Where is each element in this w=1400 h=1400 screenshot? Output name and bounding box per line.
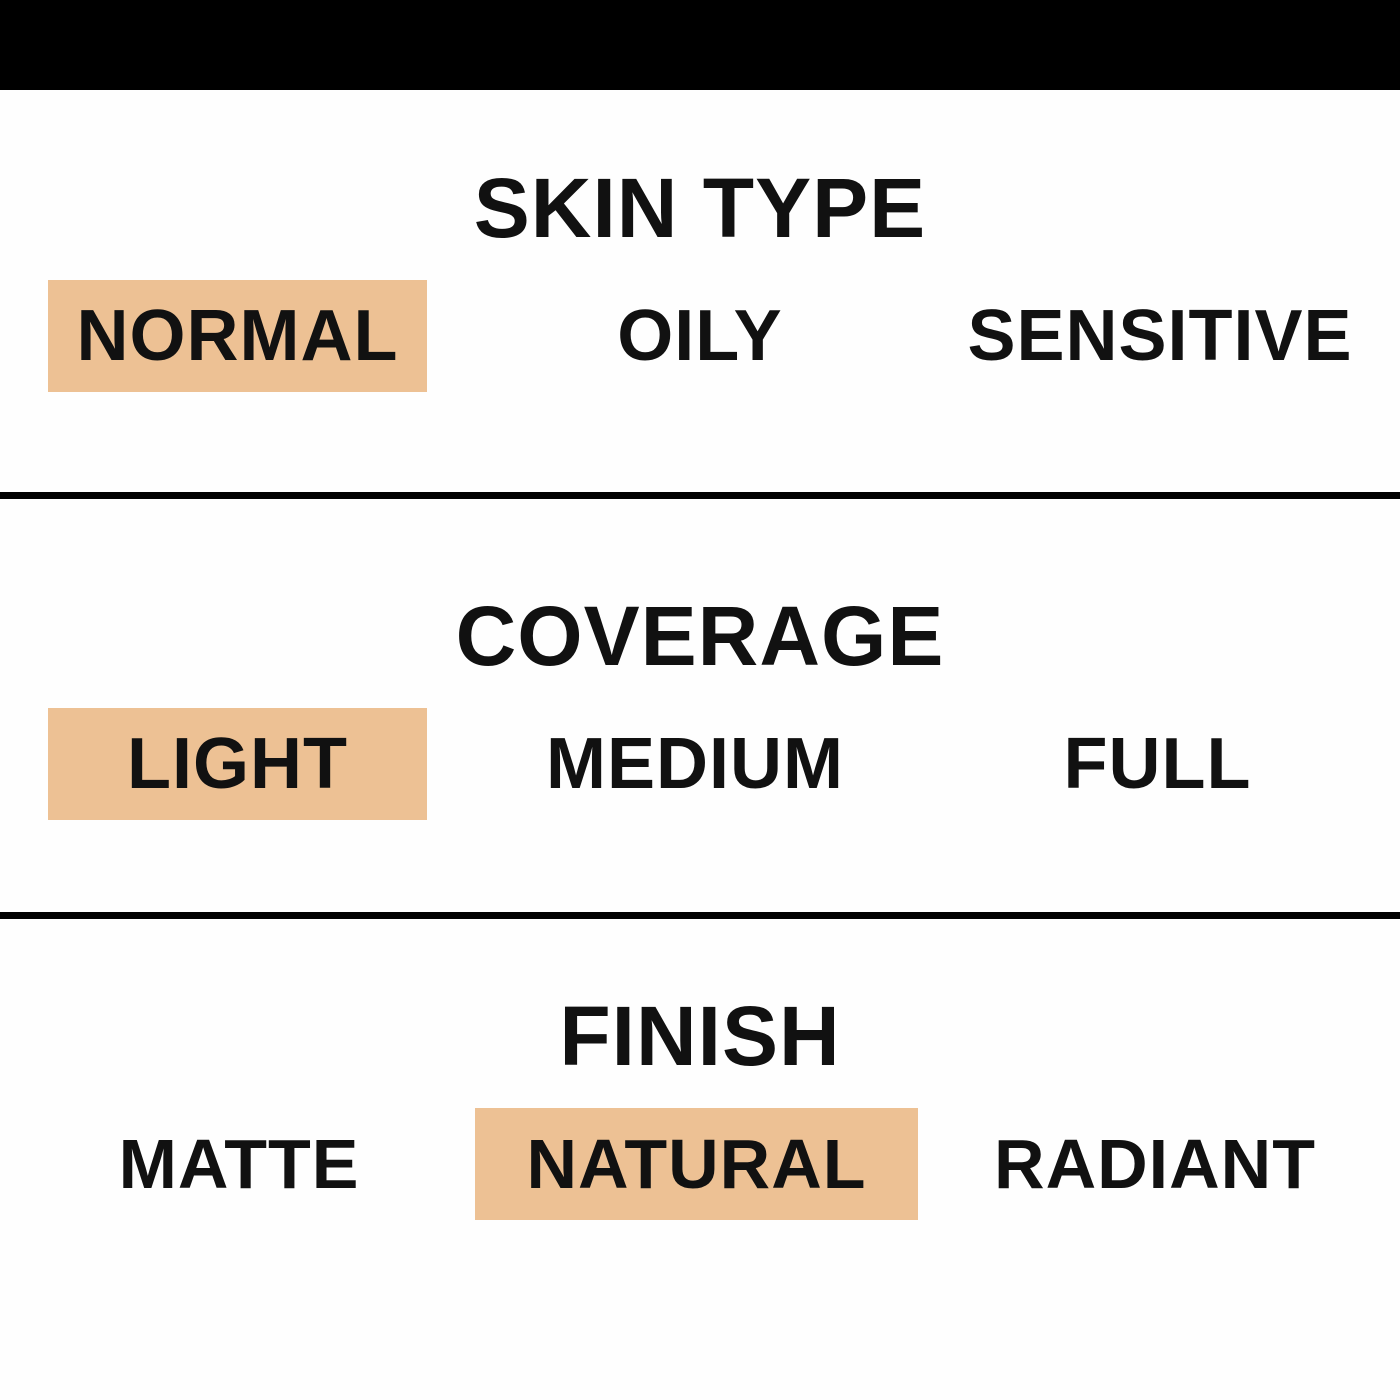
option-label: OILY — [617, 280, 782, 392]
option-coverage-medium[interactable]: MEDIUM — [520, 708, 870, 820]
option-row-coverage: LIGHT MEDIUM FULL — [0, 708, 1400, 838]
option-skin-type-oily[interactable]: OILY — [560, 280, 840, 392]
poster-canvas: SKIN TYPE NORMAL OILY SENSITIVE COVERAGE… — [0, 0, 1400, 1400]
option-coverage-full[interactable]: FULL — [1005, 708, 1310, 820]
option-label: SENSITIVE — [967, 280, 1352, 392]
section-coverage: COVERAGE LIGHT MEDIUM FULL — [0, 588, 1400, 848]
section-title-skin-type: SKIN TYPE — [0, 160, 1400, 256]
section-finish: FINISH MATTE NATURAL RADIANT — [0, 988, 1400, 1248]
option-skin-type-sensitive[interactable]: SENSITIVE — [940, 280, 1380, 392]
option-label: RADIANT — [994, 1108, 1316, 1220]
option-row-finish: MATTE NATURAL RADIANT — [0, 1108, 1400, 1238]
option-label: MEDIUM — [546, 708, 844, 820]
section-title-coverage: COVERAGE — [0, 588, 1400, 684]
option-label: MATTE — [119, 1108, 360, 1220]
option-finish-matte[interactable]: MATTE — [100, 1108, 378, 1220]
option-finish-natural[interactable]: NATURAL — [475, 1108, 918, 1220]
top-banner-bar — [0, 0, 1400, 90]
section-title-finish: FINISH — [0, 988, 1400, 1084]
option-label: FULL — [1064, 708, 1252, 820]
option-coverage-light[interactable]: LIGHT — [48, 708, 427, 820]
option-label: NORMAL — [77, 280, 399, 392]
section-divider-2 — [0, 912, 1400, 919]
option-skin-type-normal[interactable]: NORMAL — [48, 280, 427, 392]
option-row-skin-type: NORMAL OILY SENSITIVE — [0, 280, 1400, 410]
option-label: LIGHT — [127, 708, 348, 820]
option-finish-radiant[interactable]: RADIANT — [975, 1108, 1335, 1220]
section-divider-1 — [0, 492, 1400, 499]
option-label: NATURAL — [526, 1108, 866, 1220]
section-skin-type: SKIN TYPE NORMAL OILY SENSITIVE — [0, 160, 1400, 420]
